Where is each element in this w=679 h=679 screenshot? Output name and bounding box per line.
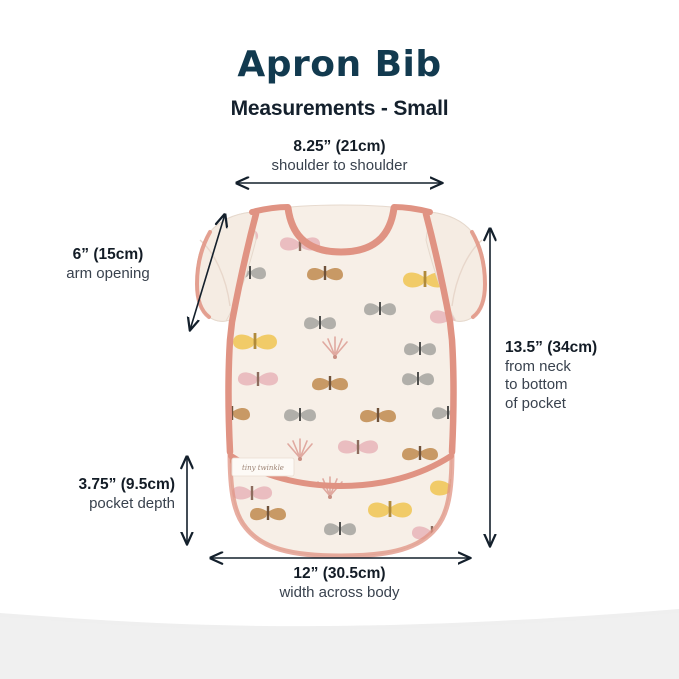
surface-shadow-band xyxy=(0,599,679,679)
brand-tag-text: tiny twinkle xyxy=(242,464,284,472)
measurement-desc-neck-to-pocket-line1: from neck xyxy=(505,358,675,376)
measurement-desc-width: width across body xyxy=(0,584,679,602)
page-subtitle: Measurements - Small xyxy=(0,97,679,121)
measurement-desc-shoulder: shoulder to shoulder xyxy=(0,157,679,175)
armhole-trim-right xyxy=(426,214,454,452)
sleeve-edge-trim-left xyxy=(197,232,210,317)
measurement-desc-pocket-depth: pocket depth xyxy=(10,495,175,513)
bib-flutter-sleeve-right xyxy=(426,212,486,321)
diagram-canvas: Apron Bib Measurements - Small xyxy=(0,0,679,679)
measurement-desc-neck-to-pocket-line3: of pocket xyxy=(505,395,675,413)
measurement-desc-neck-to-pocket-line2: to bottom xyxy=(505,376,675,394)
measurement-value-neck-to-pocket: 13.5” (34cm) xyxy=(505,339,675,358)
neckline-trim xyxy=(288,208,394,252)
measurement-label-arm-opening: 6” (15cm) arm opening xyxy=(18,246,198,283)
measurement-label-shoulder: 8.25” (21cm) shoulder to shoulder xyxy=(0,138,679,175)
shoulder-trim-left xyxy=(252,207,288,212)
measurement-desc-arm-opening: arm opening xyxy=(18,265,198,283)
page-title: Apron Bib xyxy=(0,44,679,85)
hem-trim xyxy=(230,452,452,556)
brand-tag: tiny twinkle xyxy=(232,458,294,476)
pocket-seam-trim xyxy=(231,456,451,486)
measurement-label-pocket-depth: 3.75” (9.5cm) pocket depth xyxy=(10,476,175,513)
measurement-value-arm-opening: 6” (15cm) xyxy=(18,246,198,265)
measurement-value-width: 12” (30.5cm) xyxy=(0,565,679,584)
shoulder-trim-right xyxy=(394,207,430,212)
measurement-value-shoulder: 8.25” (21cm) xyxy=(0,138,679,157)
measurement-value-pocket-depth: 3.75” (9.5cm) xyxy=(10,476,175,495)
sleeve-edge-trim-right xyxy=(472,232,485,317)
bib-flutter-sleeve-left xyxy=(196,212,256,321)
measurement-label-width: 12” (30.5cm) width across body xyxy=(0,565,679,602)
measurement-label-neck-to-pocket: 13.5” (34cm) from neck to bottom of pock… xyxy=(505,339,675,413)
armhole-trim-left xyxy=(229,214,257,452)
